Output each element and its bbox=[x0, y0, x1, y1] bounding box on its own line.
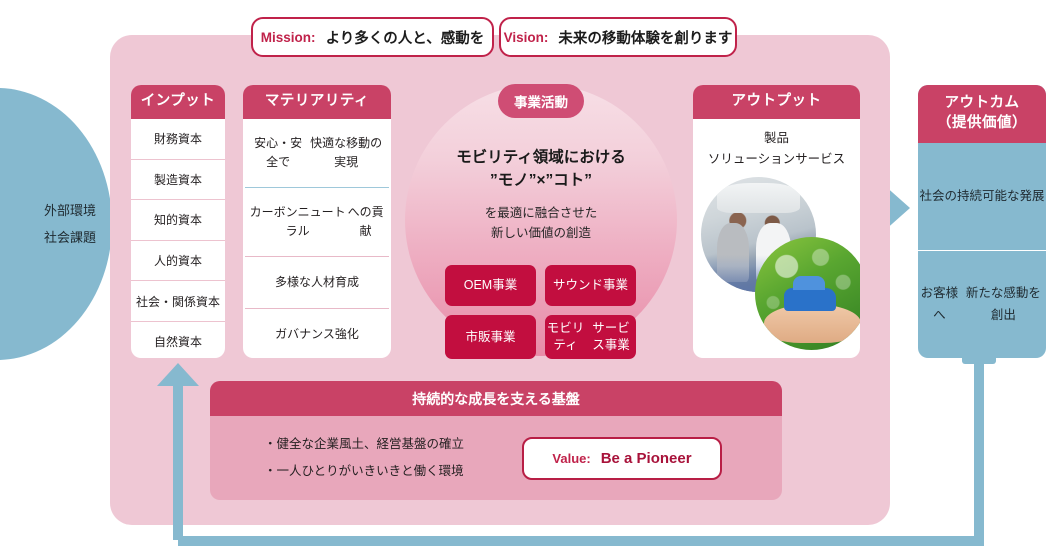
external-environment-line2: 社会課題 bbox=[44, 224, 96, 251]
feedback-arrow-head-icon bbox=[157, 363, 199, 386]
foundation-panel: 持続的な成長を支える基盤 ・健全な企業風土、経営基盤の確立 ・一人ひとりがいきい… bbox=[210, 381, 782, 500]
foundation-bullet: ・一人ひとりがいきいきと働く環境 bbox=[264, 458, 522, 486]
input-item: 社会・関係資本 bbox=[131, 281, 225, 322]
vision-value: 未来の移動体験を創ります bbox=[558, 27, 732, 48]
external-environment-text: 外部環境 社会課題 bbox=[44, 197, 112, 252]
business-headline: モビリティ領域における ”モノ”×”コト” bbox=[405, 146, 677, 193]
output-text-line2: ソリューションサービス bbox=[693, 149, 860, 170]
foundation-bullet: ・健全な企業風土、経営基盤の確立 bbox=[264, 431, 522, 459]
outcome-item: 社会の持続可能な発展 bbox=[918, 143, 1046, 250]
outcome-item: お客様へ新たな感動を創出 bbox=[918, 251, 1046, 358]
business-subtext-line2: 新しい価値の創造 bbox=[405, 223, 677, 243]
foundation-body: ・健全な企業風土、経営基盤の確立 ・一人ひとりがいきいきと働く環境 Value:… bbox=[210, 416, 782, 500]
output-photo-group bbox=[693, 171, 860, 356]
input-item: 人的資本 bbox=[131, 241, 225, 282]
foundation-bullet-list: ・健全な企業風土、経営基盤の確立 ・一人ひとりがいきいきと働く環境 bbox=[222, 431, 522, 486]
business-tag-sound: サウンド事業 bbox=[545, 265, 636, 306]
vision-label: Vision: bbox=[504, 30, 549, 45]
input-item: 知的資本 bbox=[131, 200, 225, 241]
output-column-header: アウトプット bbox=[693, 85, 860, 119]
mission-value: より多くの人と、感動を bbox=[326, 27, 485, 48]
materiality-column: マテリアリティ 安心・安全で快適な移動の実現 カーボンニュートラルへの貢献 多様… bbox=[243, 85, 391, 358]
foundation-header: 持続的な成長を支える基盤 bbox=[210, 381, 782, 416]
feedback-line-right bbox=[974, 358, 984, 540]
output-text: 製品 ソリューションサービス bbox=[693, 119, 860, 171]
feedback-line-left bbox=[173, 380, 183, 540]
outcome-column: アウトカム （提供価値） 社会の持続可能な発展 お客様へ新たな感動を創出 bbox=[918, 85, 1046, 358]
materiality-item: 安心・安全で快適な移動の実現 bbox=[243, 119, 391, 187]
mission-label: Mission: bbox=[261, 30, 316, 45]
value-text: Be a Pioneer bbox=[601, 450, 692, 467]
business-subtext-line1: を最適に融合させた bbox=[405, 203, 677, 223]
value-label: Value: bbox=[552, 451, 590, 466]
business-tag-mobility-service: モビリティサービス事業 bbox=[545, 315, 636, 359]
output-text-line1: 製品 bbox=[693, 128, 860, 149]
blue-car-shape bbox=[784, 288, 836, 311]
output-column: アウトプット 製品 ソリューションサービス bbox=[693, 85, 860, 358]
input-column-header: インプット bbox=[131, 85, 225, 119]
input-item: 財務資本 bbox=[131, 119, 225, 160]
business-tag-retail: 市販事業 bbox=[445, 315, 536, 359]
vision-pill: Vision: 未来の移動体験を創ります bbox=[499, 17, 737, 57]
outcome-header-line1: アウトカム bbox=[937, 94, 1027, 114]
business-headline-line2: ”モノ”×”コト” bbox=[405, 169, 677, 192]
materiality-item: カーボンニュートラルへの貢献 bbox=[243, 188, 391, 256]
materiality-item: 多様な人材育成 bbox=[243, 257, 391, 308]
outcome-column-header: アウトカム （提供価値） bbox=[918, 85, 1046, 143]
outcome-header-line2: （提供価値） bbox=[937, 114, 1027, 134]
car-windshield-shape bbox=[717, 183, 800, 213]
external-environment-ellipse: 外部環境 社会課題 bbox=[0, 88, 112, 360]
value-box: Value: Be a Pioneer bbox=[522, 437, 722, 480]
materiality-column-header: マテリアリティ bbox=[243, 85, 391, 119]
external-environment-line1: 外部環境 bbox=[44, 197, 96, 224]
input-column: インプット 財務資本 製造資本 知的資本 人的資本 社会・関係資本 自然資本 bbox=[131, 85, 225, 358]
green-eco-car-photo bbox=[755, 237, 860, 350]
input-item: 自然資本 bbox=[131, 322, 225, 358]
input-item: 製造資本 bbox=[131, 160, 225, 201]
business-headline-line1: モビリティ領域における bbox=[405, 146, 677, 169]
feedback-line-bottom bbox=[178, 536, 984, 546]
mission-pill: Mission: より多くの人と、感動を bbox=[251, 17, 494, 57]
materiality-item: ガバナンス強化 bbox=[243, 309, 391, 358]
business-tag-oem: OEM事業 bbox=[445, 265, 536, 306]
business-activity-badge: 事業活動 bbox=[498, 84, 584, 118]
value-creation-diagram: 外部環境 社会課題 Mission: より多くの人と、感動を Vision: 未… bbox=[0, 0, 1060, 558]
business-subtext: を最適に融合させた 新しい価値の創造 bbox=[405, 203, 677, 243]
